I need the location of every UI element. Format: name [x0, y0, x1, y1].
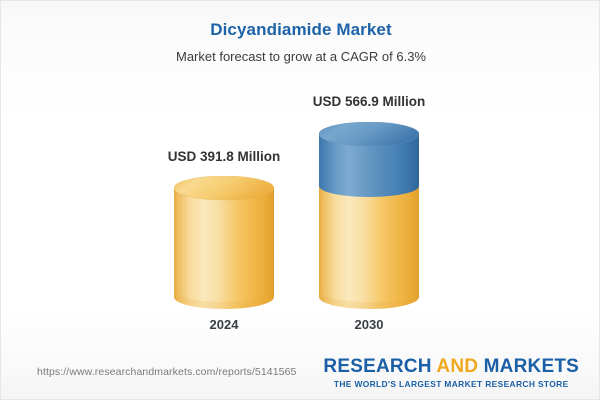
brand-markets-text: MARKETS	[478, 356, 579, 377]
brand-tagline: THE WORLD'S LARGEST MARKET RESEARCH STOR…	[323, 379, 579, 390]
report-url[interactable]: https://www.researchandmarkets.com/repor…	[37, 366, 296, 379]
infographic-canvas: Dicyandiamide Market Market forecast to …	[0, 0, 600, 400]
brand-research-text: RESEARCH	[323, 356, 436, 377]
chart-plot-area: USD 391.8 Million	[1, 1, 600, 346]
cylinder-bar-2030	[319, 122, 419, 309]
category-label-2024: 2024	[210, 317, 239, 333]
bar-value-label-2024: USD 391.8 Million	[168, 149, 281, 165]
category-label-2030: 2030	[355, 317, 384, 333]
cylinder-bar-2024	[174, 176, 274, 309]
bar-value-label-2030: USD 566.9 Million	[313, 94, 426, 110]
brand-wordmark: RESEARCH AND MARKETS	[323, 356, 579, 378]
brand-and-text: AND	[436, 356, 478, 377]
brand-logo[interactable]: RESEARCH AND MARKETS THE WORLD'S LARGEST…	[323, 356, 579, 390]
footer-bar: https://www.researchandmarkets.com/repor…	[1, 347, 600, 399]
